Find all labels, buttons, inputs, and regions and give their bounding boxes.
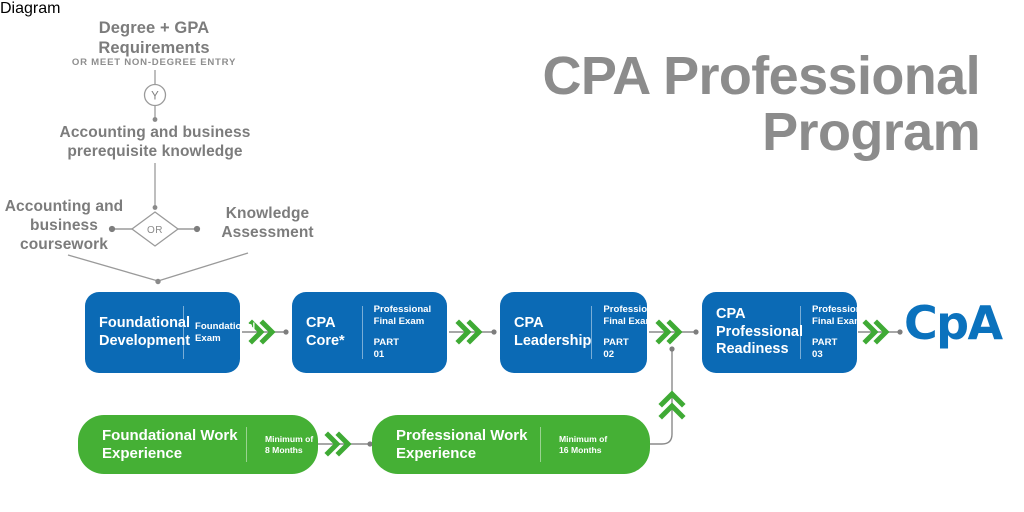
module-title: CPA Core* [292, 315, 362, 350]
non-degree-entry-label: OR MEET NON-DEGREE ENTRY [48, 57, 260, 69]
module-cpa-leadership[interactable]: CPA Leadership Professional Final Exam P… [500, 292, 647, 373]
module-title: Professional Work Experience [372, 427, 540, 463]
module-duration: Minimum of8 Months [247, 434, 313, 455]
module-title: Foundational Work Experience [78, 427, 246, 463]
module-meta: Professional Final Exam PART01 [363, 304, 447, 361]
accounting-coursework-label: Accounting and business coursework [0, 198, 128, 255]
svg-text:Y: Y [151, 91, 159, 103]
module-exam: Professional Final Exam [603, 304, 661, 327]
cpa-logo-p: p [936, 296, 967, 350]
module-professional-work-experience[interactable]: Professional Work Experience Minimum of1… [372, 415, 650, 474]
page-title-line2: Program [420, 104, 980, 160]
module-cpa-professional-readiness[interactable]: CPA Professional Readiness Professional … [702, 292, 857, 373]
prerequisite-knowledge-label: Accounting and business prerequisite kno… [42, 124, 268, 162]
module-cpa-core[interactable]: CPA Core* Professional Final Exam PART01 [292, 292, 447, 373]
module-exam: Foundational Exam [195, 321, 255, 344]
degree-requirements-label: Degree + GPA Requirements [48, 18, 260, 58]
knowledge-assessment-label: Knowledge Assessment [195, 205, 340, 243]
module-foundational-work-experience[interactable]: Foundational Work Experience Minimum of8… [78, 415, 318, 474]
module-title: CPA Professional Readiness [702, 306, 800, 358]
cpa-logo-c: C [904, 296, 936, 350]
module-part: PART03 [812, 337, 870, 361]
module-title: CPA Leadership [500, 315, 591, 350]
module-foundational-development[interactable]: Foundational Development Foundational Ex… [85, 292, 240, 373]
cpa-logo-a: A [968, 296, 1002, 350]
diagram-canvas: Y OR [0, 0, 1024, 512]
module-meta: Foundational Exam [184, 321, 255, 345]
cpa-designation-logo: CpA [904, 300, 1002, 346]
page-title-line1: CPA Professional [542, 46, 980, 106]
module-exam: Professional Final Exam [374, 304, 432, 327]
module-duration: Minimum of16 Months [541, 434, 607, 455]
module-part: PART01 [374, 337, 447, 361]
module-exam: Professional Final Exam [812, 304, 870, 327]
svg-text:OR: OR [147, 225, 163, 236]
module-part: PART02 [603, 337, 661, 361]
page-title: CPA Professional Program [420, 48, 980, 160]
module-meta: Professional Final Exam PART03 [801, 304, 870, 361]
module-meta: Professional Final Exam PART02 [592, 304, 661, 361]
module-title: Foundational Development [85, 315, 183, 350]
